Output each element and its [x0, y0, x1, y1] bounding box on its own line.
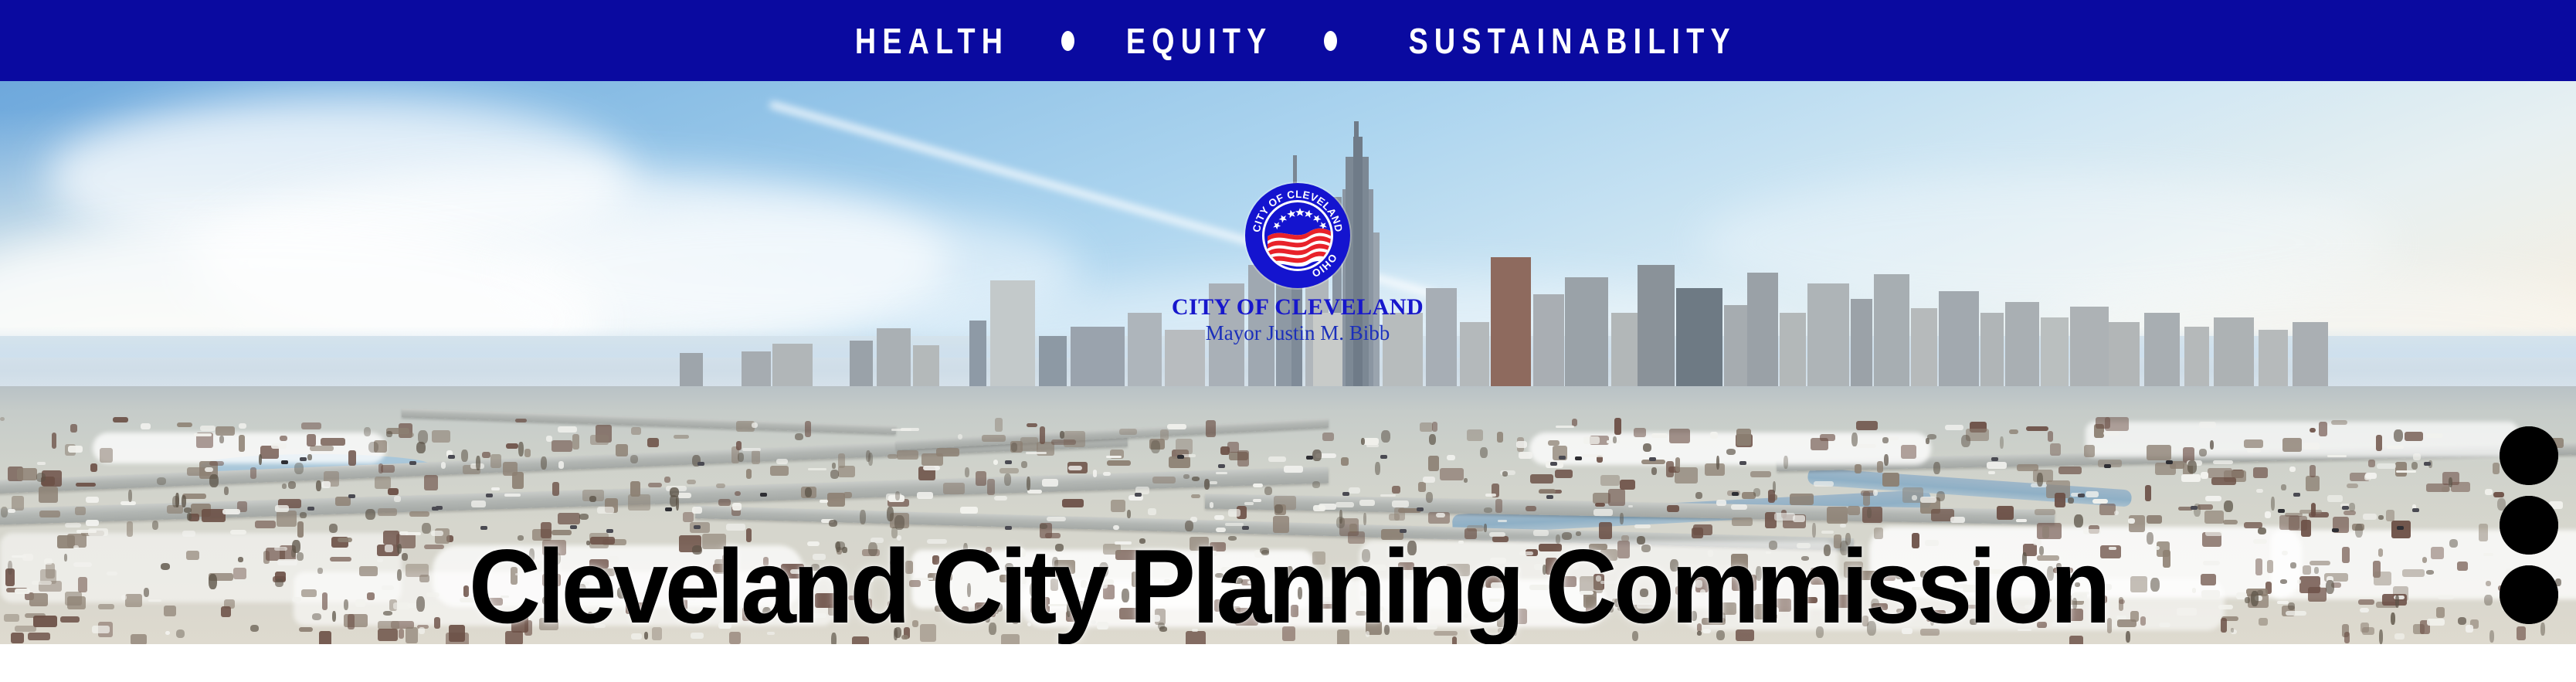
tree — [835, 575, 840, 580]
city-block — [299, 627, 313, 632]
city-block — [2130, 576, 2147, 592]
city-block — [2517, 626, 2526, 640]
tree — [144, 588, 149, 597]
snow-roof — [2466, 625, 2473, 633]
city-block — [518, 607, 524, 612]
city-block — [1732, 517, 1753, 526]
city-block — [2147, 445, 2171, 460]
city-block — [714, 559, 729, 574]
snow-roof — [1674, 582, 1688, 586]
city-block — [1337, 629, 1349, 644]
city-block — [1820, 434, 1835, 441]
tree — [2314, 567, 2319, 574]
snow-roof — [807, 541, 820, 546]
city-block — [1693, 524, 1712, 535]
tree — [209, 574, 217, 589]
snow-roof — [1634, 524, 1651, 528]
city-block — [406, 564, 429, 577]
city-block — [888, 601, 895, 607]
tree — [2199, 449, 2207, 456]
tree — [1502, 471, 1508, 477]
city-block — [1555, 470, 1573, 478]
city-block — [1736, 429, 1751, 446]
city-block — [2267, 560, 2273, 573]
snow-roof — [2199, 422, 2216, 428]
tree — [288, 481, 296, 489]
city-block — [674, 435, 689, 439]
snow-roof — [1284, 466, 1303, 473]
vehicle — [2412, 508, 2419, 512]
city-block — [2282, 438, 2302, 452]
city-block — [995, 418, 1003, 432]
snow-roof — [1417, 625, 1437, 629]
snow-roof — [1216, 472, 1227, 474]
snow-roof — [678, 609, 696, 614]
city-block — [1282, 626, 1295, 641]
tree — [2037, 473, 2043, 487]
tree — [868, 542, 877, 556]
city-block — [1160, 429, 1169, 440]
snow-roof — [1700, 589, 1705, 595]
city-block — [52, 433, 56, 449]
vehicle — [1546, 495, 1553, 499]
city-block — [1599, 522, 1612, 539]
vehicle — [307, 507, 314, 511]
city-block — [4, 614, 19, 622]
tree — [1004, 473, 1011, 486]
city-block — [1030, 597, 1050, 613]
snow-roof — [2213, 460, 2233, 464]
snow-roof — [2192, 588, 2196, 593]
tree — [1384, 625, 1390, 635]
city-block — [15, 626, 36, 632]
snow-roof — [2485, 489, 2493, 495]
snow-roof — [1197, 551, 1217, 556]
city-block — [2311, 503, 2316, 517]
seal-inner-disc — [1262, 200, 1333, 271]
tree — [2394, 429, 2403, 442]
brand-subtitle: Mayor Justin M. Bibb — [1139, 321, 1456, 344]
building-spire — [1354, 121, 1359, 168]
snow-roof — [2256, 489, 2263, 493]
snow-roof — [222, 509, 240, 514]
tree — [1613, 436, 1617, 443]
city-block — [2107, 618, 2112, 633]
city-block — [962, 606, 969, 616]
snow-roof — [1447, 455, 1455, 460]
city-block — [539, 618, 558, 630]
city-block — [905, 561, 913, 574]
tree — [1060, 431, 1064, 439]
city-block — [2395, 462, 2407, 477]
tree — [1429, 434, 1436, 445]
snow-roof — [68, 446, 83, 453]
vehicle — [570, 525, 577, 529]
snow-roof — [1055, 576, 1067, 579]
tree — [36, 473, 46, 482]
snow-roof — [1840, 524, 1846, 528]
tree — [1122, 589, 1129, 602]
city-block — [1848, 506, 1860, 515]
city-block — [1392, 486, 1400, 494]
tree — [1192, 477, 1200, 481]
tree — [2187, 460, 2197, 473]
city-block — [541, 522, 552, 538]
tree — [383, 611, 392, 616]
city-block — [512, 472, 524, 489]
city-block — [383, 531, 399, 545]
tree — [2074, 514, 2083, 528]
vehicle — [606, 529, 613, 533]
snow-roof — [2018, 629, 2031, 631]
snow-roof — [1349, 487, 1360, 494]
snow-roof — [73, 562, 92, 567]
snow-roof — [2103, 431, 2120, 436]
tree — [422, 523, 431, 534]
city-block — [858, 599, 872, 610]
snow-roof — [1950, 517, 1965, 523]
tagline-bar: HEALTH EQUITY SUSTAINABILITY — [0, 0, 2576, 81]
city-block — [683, 512, 694, 522]
city-block — [1119, 608, 1139, 619]
city-block — [986, 547, 992, 553]
city-block — [1926, 612, 1942, 622]
city-block — [1020, 437, 1038, 451]
city-block — [46, 563, 55, 579]
snow-roof — [917, 492, 933, 499]
city-block — [2035, 509, 2055, 515]
tree — [887, 507, 894, 521]
city-block — [2204, 511, 2224, 524]
tree — [1233, 578, 1243, 584]
city-block — [2069, 636, 2083, 644]
city-block — [2342, 547, 2350, 563]
snow-roof — [121, 595, 127, 600]
city-block — [2253, 467, 2268, 478]
city-block — [164, 606, 176, 616]
snow-roof — [2438, 595, 2454, 599]
tree — [2245, 597, 2250, 603]
city-block — [815, 593, 837, 608]
snow-roof — [2205, 496, 2221, 501]
snow-roof — [1164, 579, 1170, 583]
city-block — [1539, 489, 1556, 494]
tree — [187, 513, 192, 521]
snow-roof — [815, 575, 822, 582]
snow-roof — [1583, 436, 1600, 444]
snow-roof — [1873, 490, 1878, 496]
tree — [586, 541, 590, 545]
snow-roof — [1210, 481, 1217, 484]
tree — [552, 552, 561, 565]
city-block — [1634, 428, 1646, 437]
city-block — [1190, 537, 1209, 551]
snow-roof — [776, 459, 788, 464]
city-block — [542, 574, 561, 586]
tree — [275, 579, 283, 587]
tree — [2540, 623, 2545, 636]
tree — [1608, 606, 1614, 612]
city-block — [1497, 432, 1503, 443]
snow-roof — [1026, 452, 1047, 454]
tree — [1030, 582, 1037, 597]
city-block — [378, 629, 398, 641]
tree — [589, 496, 596, 502]
snow-roof — [923, 466, 940, 470]
tree — [209, 474, 219, 487]
snow-roof — [1560, 616, 1572, 623]
snow-roof — [1637, 603, 1656, 609]
tagline-word-sustainability: SUSTAINABILITY — [1409, 23, 1736, 59]
city-block — [1882, 473, 1899, 487]
tree — [529, 548, 535, 562]
snow-roof — [1774, 513, 1795, 521]
city-block — [1027, 423, 1037, 427]
tree — [128, 490, 132, 502]
snow-roof — [1454, 579, 1464, 585]
snow-roof — [2015, 569, 2021, 574]
snow-roof — [1593, 509, 1613, 516]
instagram-link[interactable] — [2500, 496, 2558, 555]
city-block — [1206, 420, 1216, 437]
snow-roof — [1929, 568, 1946, 572]
city-block — [935, 606, 945, 612]
snow-roof — [1628, 505, 1633, 507]
snow-roof — [501, 595, 509, 598]
tree — [1407, 541, 1417, 555]
snow-roof — [2247, 449, 2261, 453]
tree — [1970, 619, 1977, 625]
city-block — [250, 467, 256, 479]
snow-roof — [1621, 599, 1627, 602]
snow-roof — [1244, 502, 1254, 505]
city-block — [100, 448, 113, 463]
city-block — [277, 511, 297, 527]
snow-roof — [609, 556, 619, 562]
snow-roof — [1366, 631, 1369, 637]
snow-roof — [426, 592, 440, 597]
city-block — [1801, 597, 1817, 603]
city-block — [28, 633, 50, 640]
vehicle — [1242, 526, 1249, 530]
tree — [1362, 549, 1370, 562]
tree — [830, 470, 839, 479]
snow-roof — [1150, 584, 1168, 588]
tree — [316, 480, 321, 491]
city-block — [982, 435, 1006, 442]
vehicle — [2342, 506, 2349, 510]
city-block — [1341, 457, 1349, 466]
city-block — [2402, 569, 2425, 577]
vehicle — [480, 526, 487, 530]
vehicle — [2397, 526, 2404, 530]
city-block — [1214, 599, 1224, 612]
snow-roof — [597, 507, 614, 514]
tree — [1513, 622, 1517, 636]
tree — [1576, 531, 1581, 536]
snow-roof — [292, 597, 301, 602]
city-block — [2431, 547, 2444, 559]
vehicle — [2191, 506, 2198, 510]
snow-roof — [2327, 455, 2347, 457]
tree — [2349, 503, 2355, 511]
snow-roof — [200, 426, 216, 431]
snow-roof — [790, 569, 808, 574]
city-block — [752, 450, 760, 464]
snow-roof — [2155, 546, 2160, 550]
snow-roof — [471, 500, 486, 507]
snow-roof — [1983, 569, 2004, 574]
city-block — [852, 636, 869, 644]
city-block — [1811, 568, 1828, 585]
snow-roof — [1458, 541, 1464, 544]
snow-roof — [1708, 550, 1713, 557]
tree — [1339, 510, 1342, 524]
snow-roof — [960, 507, 978, 514]
tree — [219, 436, 224, 443]
city-block — [1827, 507, 1848, 524]
snow-roof — [355, 599, 365, 607]
tree — [1139, 538, 1145, 544]
tree — [1078, 601, 1084, 612]
snow-roof — [2396, 470, 2416, 473]
tree — [312, 613, 321, 620]
snow-roof — [182, 531, 195, 537]
vehicle — [1380, 455, 1387, 459]
city-block — [827, 493, 845, 507]
tree — [1264, 487, 1272, 495]
snow-roof — [230, 530, 246, 534]
city-block — [322, 592, 328, 610]
snow-roof — [742, 448, 761, 451]
city-block — [1736, 629, 1754, 641]
snow-roof — [120, 501, 136, 505]
tree — [985, 612, 990, 623]
tree — [480, 579, 487, 592]
tree — [2257, 590, 2263, 595]
snow-roof — [1702, 629, 1711, 633]
city-block — [735, 491, 741, 496]
snow-roof — [2364, 474, 2371, 480]
snow-roof — [1042, 479, 1058, 487]
snow-roof — [1464, 613, 1468, 618]
snow-roof — [2360, 608, 2369, 612]
snow-roof — [88, 528, 108, 536]
snow-roof — [1010, 575, 1014, 582]
tree — [967, 583, 971, 597]
city-block — [1669, 429, 1690, 443]
tree — [1867, 621, 1876, 636]
vehicle — [1991, 457, 1998, 461]
snow-roof — [1091, 620, 1096, 624]
tree — [1620, 513, 1624, 524]
city-block — [1446, 564, 1470, 576]
snow-roof — [2109, 547, 2116, 550]
city-block — [1348, 531, 1365, 544]
city-block — [78, 577, 87, 592]
snow-roof — [1534, 564, 1543, 570]
tree — [692, 545, 702, 555]
city-block — [1420, 422, 1433, 432]
snow-roof — [2282, 551, 2288, 555]
tree — [461, 450, 468, 462]
city-block — [1452, 636, 1457, 644]
tree — [805, 487, 812, 497]
snow-roof — [2016, 519, 2027, 522]
youtube-link[interactable] — [2500, 426, 2558, 485]
city-block — [319, 631, 331, 644]
tree — [2290, 562, 2296, 568]
city-block — [1000, 468, 1019, 473]
snow-roof — [1490, 558, 1506, 564]
snow-roof — [913, 578, 933, 580]
snow-roof — [1048, 604, 1069, 606]
city-block — [552, 530, 572, 535]
city-block — [2378, 548, 2383, 557]
snow-roof — [2413, 453, 2421, 460]
vehicle — [486, 494, 493, 497]
snow-roof — [1529, 585, 1550, 590]
page-root: HEALTH EQUITY SUSTAINABILITY — [0, 0, 2576, 682]
city-block — [558, 513, 580, 524]
tree — [965, 467, 969, 477]
city-block — [1467, 429, 1483, 441]
city-block — [2145, 485, 2151, 501]
snow-roof — [393, 602, 410, 609]
city-block — [1103, 544, 1121, 555]
vehicle — [1559, 456, 1566, 460]
city-block — [2035, 599, 2052, 602]
snow-roof — [2426, 433, 2443, 438]
snow-roof — [1489, 599, 1501, 602]
tree — [152, 521, 158, 530]
city-block — [307, 434, 316, 446]
vehicle — [1342, 492, 1349, 496]
vehicle — [2293, 493, 2300, 497]
tree — [1936, 491, 1945, 501]
city-block — [2259, 618, 2268, 626]
tree — [2000, 436, 2004, 449]
snow-roof — [820, 568, 826, 573]
city-block — [1051, 439, 1076, 445]
tree — [811, 564, 820, 571]
city-block — [39, 487, 58, 503]
city-block — [2037, 555, 2059, 561]
snow-roof — [1988, 471, 1995, 474]
facebook-link[interactable] — [2500, 565, 2558, 624]
brand-title: CITY OF CLEVELAND — [1139, 294, 1456, 321]
city-block — [1418, 482, 1426, 492]
tree — [578, 584, 586, 598]
seal-stars — [1271, 208, 1329, 230]
vehicle — [281, 460, 288, 464]
snow-roof — [86, 497, 99, 503]
snow-roof — [1392, 500, 1409, 507]
city-block — [57, 535, 75, 548]
city-block — [424, 475, 438, 490]
snow-roof — [2297, 579, 2301, 584]
tree — [1695, 492, 1702, 499]
city-block — [2009, 429, 2018, 434]
snow-roof — [1766, 551, 1771, 554]
tree — [1484, 507, 1492, 513]
tree — [1920, 571, 1926, 578]
snow-roof — [1140, 615, 1160, 622]
city-block — [1040, 426, 1045, 444]
city-block — [280, 436, 287, 441]
snow-roof — [1192, 629, 1198, 632]
city-block — [60, 616, 80, 623]
